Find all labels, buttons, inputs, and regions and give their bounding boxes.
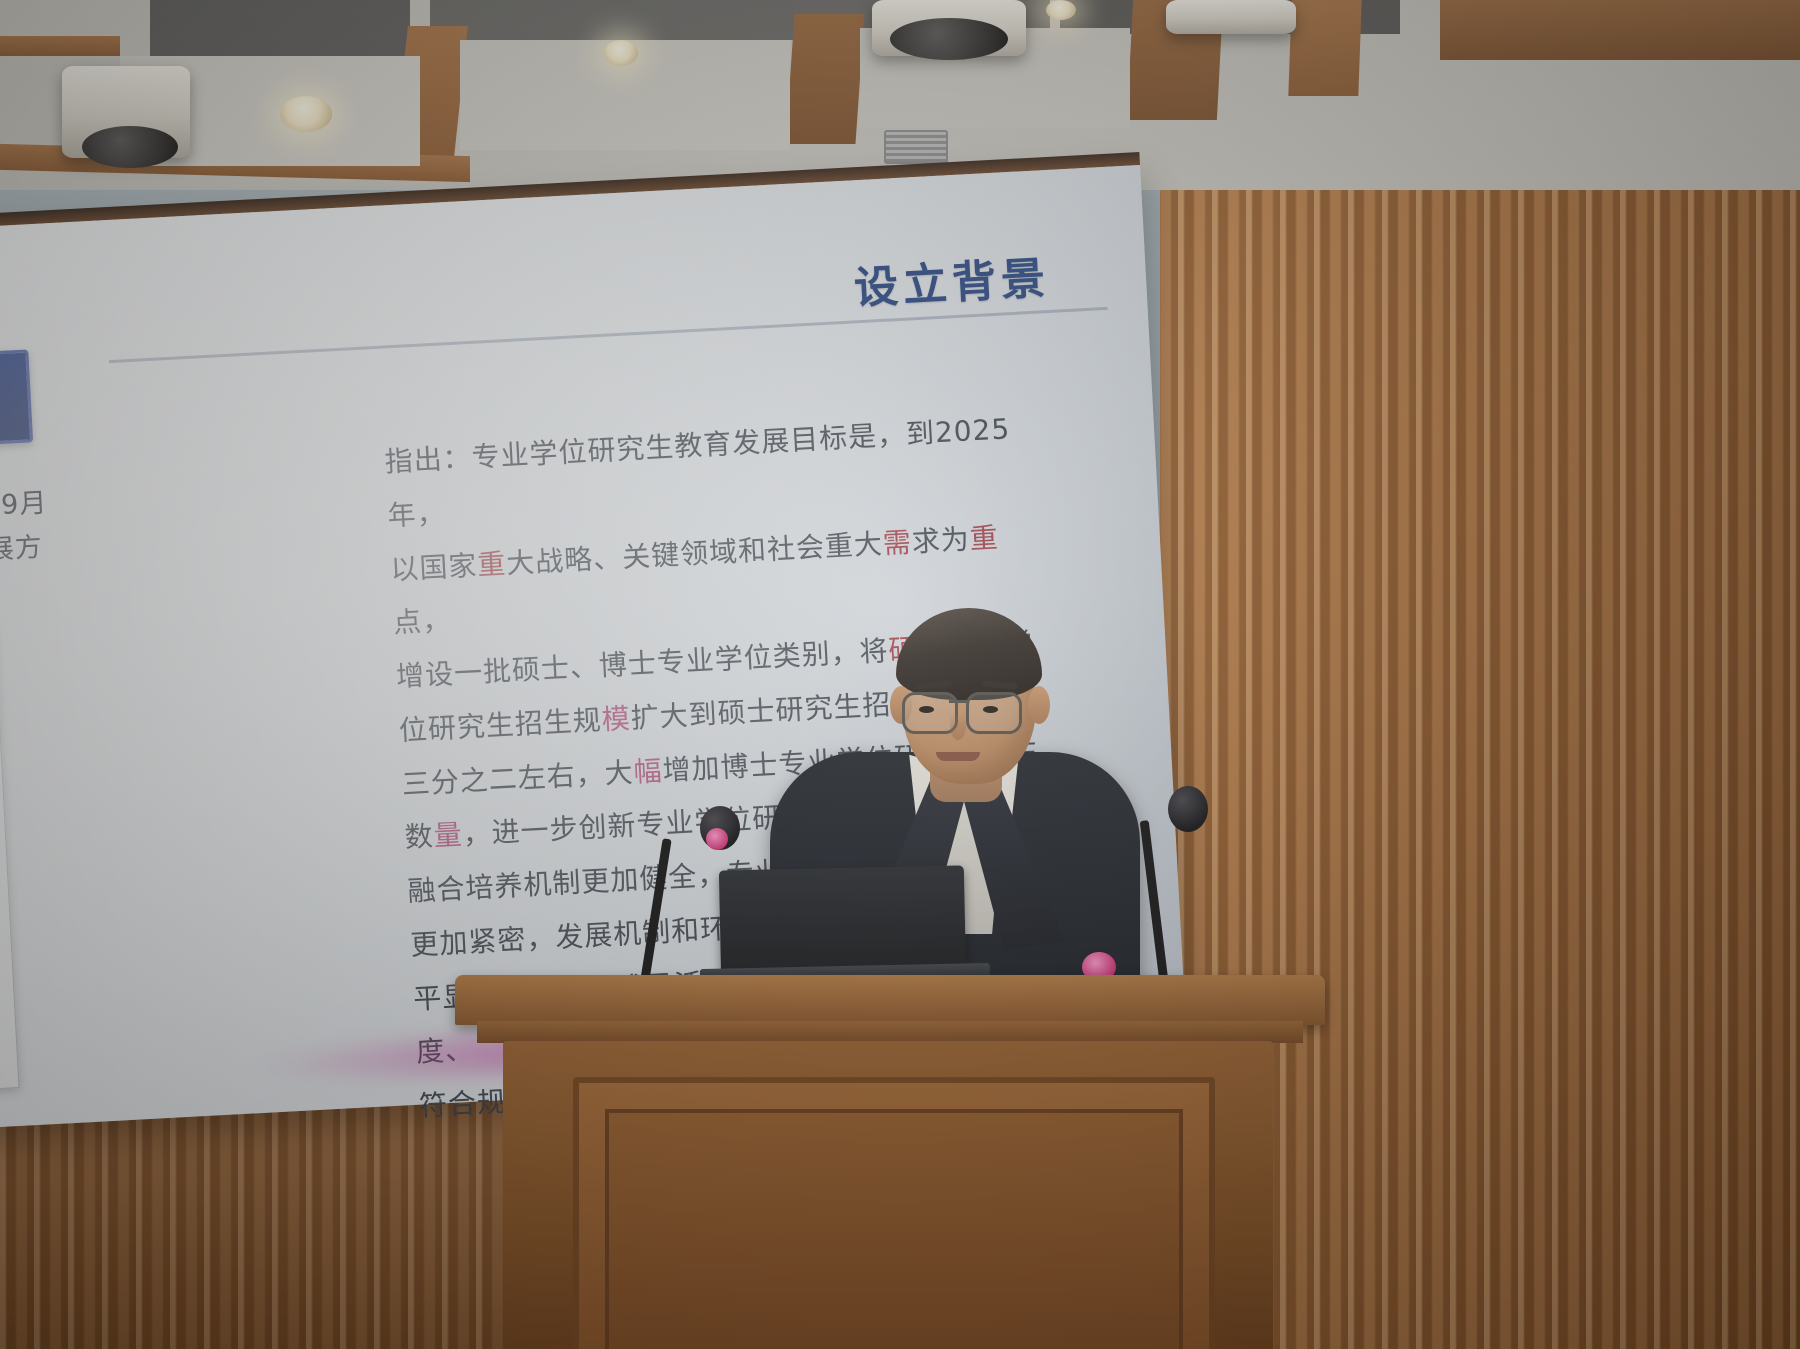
ceiling-downlight-2 bbox=[604, 40, 638, 66]
ceiling-beam-e bbox=[1288, 0, 1361, 96]
podium-panel-frame bbox=[573, 1077, 1215, 1349]
doc-thumb-header: 中华人民共和国教育部 bbox=[0, 627, 7, 703]
ceiling-downlight-3 bbox=[1046, 0, 1076, 20]
slide-title-rule bbox=[109, 307, 1108, 363]
ceiling-recess-1 bbox=[150, 0, 410, 58]
ceiling-spotlight-lens-2 bbox=[890, 18, 1008, 60]
podium-panel-inset bbox=[605, 1109, 1183, 1349]
eyeglasses-lens-right bbox=[966, 692, 1022, 734]
eyeglasses-bridge bbox=[949, 700, 967, 703]
banner-line-2: 专业学位硕士 bbox=[0, 396, 20, 448]
slide-banner: 资源与环境类 专业学位硕士 bbox=[0, 349, 33, 463]
ceiling-air-vent bbox=[884, 130, 948, 164]
podium bbox=[455, 975, 1325, 1349]
presenter-nose bbox=[950, 712, 966, 740]
ceiling-beam-c bbox=[785, 14, 864, 144]
presenter-eye-right bbox=[983, 706, 998, 713]
slide-left-column: 委员会、教育部于2020年9月 《专业学位研究生教育发展方 2025）》 bbox=[0, 479, 102, 632]
document-screenshot-thumbnail: 中华人民共和国教育部 bbox=[0, 627, 20, 1106]
ceiling-downlight-1 bbox=[280, 96, 332, 132]
presenter-eye-left bbox=[919, 706, 934, 713]
ceiling-beam-a bbox=[0, 36, 120, 56]
podium-top-surface bbox=[455, 975, 1325, 1025]
presenter-mouth bbox=[936, 752, 980, 761]
ceiling bbox=[0, 0, 1800, 190]
podium-edge-lip bbox=[477, 1021, 1303, 1043]
podium-front-panel bbox=[503, 1041, 1273, 1349]
microphone-windscreen-left bbox=[706, 828, 728, 850]
presenter-ear-right bbox=[1028, 686, 1050, 724]
ceiling-spotlight-housing-3 bbox=[1166, 0, 1296, 34]
slide-title: 设立背景 bbox=[852, 242, 1051, 316]
ceiling-beam-f bbox=[1440, 0, 1800, 60]
photo-scene: 设立背景 资源与环境类 专业学位硕士 委员会、教育部于2020年9月 《专业学位… bbox=[0, 0, 1800, 1349]
microphone-head-right bbox=[1168, 786, 1208, 832]
ceiling-spotlight-lens-1 bbox=[82, 126, 178, 168]
left-col-line-3: 2025）》 bbox=[0, 566, 102, 632]
